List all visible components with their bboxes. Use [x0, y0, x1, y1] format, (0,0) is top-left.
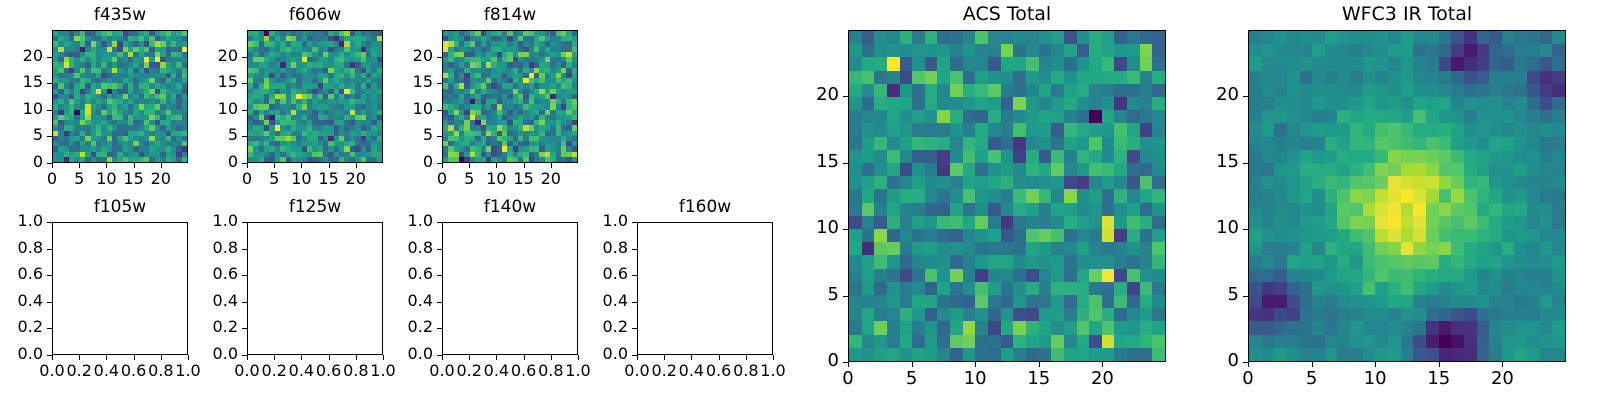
xtick-f140w-1	[469, 355, 470, 360]
yticklabel-f125w-4: 0.8	[178, 240, 238, 256]
xticklabel-acs-total-0: 0	[818, 370, 878, 388]
ytick-f435w-3	[47, 83, 52, 84]
ytick-wfc3-ir-total-3	[1243, 163, 1248, 164]
xtick-f140w-3	[524, 355, 525, 360]
xtick-f435w-3	[134, 163, 135, 168]
yticklabel-f125w-3: 0.6	[178, 266, 238, 282]
panel-title-wfc3-ir-total: WFC3 IR Total	[1248, 5, 1566, 24]
xticklabel-acs-total-3: 15	[1009, 370, 1069, 388]
xticklabel-f105w-5: 1.0	[158, 363, 218, 379]
yticklabel-f435w-2: 10	[0, 101, 43, 117]
yticklabel-f105w-1: 0.2	[0, 319, 43, 335]
ytick-f606w-2	[242, 110, 247, 111]
ytick-f606w-1	[242, 136, 247, 137]
xtick-wfc3-ir-total-1	[1312, 362, 1313, 367]
xtick-wfc3-ir-total-2	[1375, 362, 1376, 367]
ytick-f606w-3	[242, 83, 247, 84]
ytick-f435w-4	[47, 57, 52, 58]
yticklabel-f606w-4: 20	[178, 48, 238, 64]
xticklabel-f435w-4: 20	[131, 171, 191, 187]
ytick-f125w-0	[242, 355, 247, 356]
ytick-wfc3-ir-total-4	[1243, 96, 1248, 97]
xtick-f814w-4	[551, 163, 552, 168]
xticklabel-wfc3-ir-total-0: 0	[1218, 370, 1278, 388]
axes-f140w	[442, 222, 578, 355]
ytick-f105w-1	[47, 328, 52, 329]
yticklabel-f814w-1: 5	[373, 127, 433, 143]
xtick-acs-total-4	[1102, 362, 1103, 367]
xtick-f160w-0	[637, 355, 638, 360]
yticklabel-f125w-1: 0.2	[178, 319, 238, 335]
heatmap-f814w	[443, 31, 577, 162]
xtick-f125w-0	[247, 355, 248, 360]
axes-wfc3-ir-total	[1248, 30, 1566, 362]
axes-f105w	[52, 222, 188, 355]
ytick-f140w-4	[437, 249, 442, 250]
panel-title-acs-total: ACS Total	[848, 5, 1166, 24]
yticklabel-f160w-4: 0.8	[568, 240, 628, 256]
yticklabel-f140w-1: 0.2	[373, 319, 433, 335]
ytick-f814w-4	[437, 57, 442, 58]
yticklabel-f160w-5: 1.0	[568, 213, 628, 229]
xtick-f814w-2	[496, 163, 497, 168]
heatmap-acs-total	[849, 31, 1165, 361]
yticklabel-f814w-3: 15	[373, 74, 433, 90]
yticklabel-f606w-1: 5	[178, 127, 238, 143]
xtick-f606w-2	[301, 163, 302, 168]
ytick-f160w-5	[632, 222, 637, 223]
xtick-f140w-4	[551, 355, 552, 360]
yticklabel-f814w-0: 0	[373, 154, 433, 170]
xtick-f125w-3	[329, 355, 330, 360]
yticklabel-f160w-1: 0.2	[568, 319, 628, 335]
yticklabel-f160w-3: 0.6	[568, 266, 628, 282]
yticklabel-f125w-2: 0.4	[178, 293, 238, 309]
yticklabel-f105w-4: 0.8	[0, 240, 43, 256]
xticklabel-wfc3-ir-total-3: 15	[1409, 370, 1469, 388]
yticklabel-acs-total-4: 20	[779, 86, 839, 104]
xtick-f140w-0	[442, 355, 443, 360]
yticklabel-f435w-4: 20	[0, 48, 43, 64]
ytick-f435w-0	[47, 163, 52, 164]
yticklabel-acs-total-3: 15	[779, 153, 839, 171]
ytick-wfc3-ir-total-0	[1243, 362, 1248, 363]
ytick-f125w-2	[242, 302, 247, 303]
ytick-f606w-4	[242, 57, 247, 58]
yticklabel-f140w-0: 0.0	[373, 346, 433, 362]
xtick-f435w-1	[79, 163, 80, 168]
axes-f435w	[52, 30, 188, 163]
yticklabel-f435w-0: 0	[0, 154, 43, 170]
panel-title-f814w: f814w	[442, 7, 578, 24]
ytick-f814w-1	[437, 136, 442, 137]
ytick-f140w-3	[437, 275, 442, 276]
xtick-f160w-4	[746, 355, 747, 360]
yticklabel-f814w-4: 20	[373, 48, 433, 64]
panel-title-f125w: f125w	[247, 199, 383, 216]
xtick-f140w-2	[496, 355, 497, 360]
xtick-acs-total-1	[912, 362, 913, 367]
ytick-f105w-2	[47, 302, 52, 303]
ytick-acs-total-3	[843, 163, 848, 164]
xticklabel-acs-total-4: 20	[1072, 370, 1132, 388]
ytick-f140w-1	[437, 328, 442, 329]
xtick-f105w-2	[106, 355, 107, 360]
yticklabel-f606w-0: 0	[178, 154, 238, 170]
xtick-wfc3-ir-total-3	[1439, 362, 1440, 367]
ytick-acs-total-0	[843, 362, 848, 363]
xticklabel-wfc3-ir-total-4: 20	[1472, 370, 1532, 388]
yticklabel-acs-total-1: 5	[779, 286, 839, 304]
xtick-f435w-2	[106, 163, 107, 168]
axes-f125w	[247, 222, 383, 355]
xticklabel-f606w-4: 20	[326, 171, 386, 187]
xtick-f814w-3	[524, 163, 525, 168]
panel-title-f140w: f140w	[442, 199, 578, 216]
yticklabel-f160w-0: 0.0	[568, 346, 628, 362]
xtick-f814w-0	[442, 163, 443, 168]
xtick-wfc3-ir-total-0	[1248, 362, 1249, 367]
ytick-acs-total-1	[843, 296, 848, 297]
heatmap-f606w	[248, 31, 382, 162]
ytick-f606w-0	[242, 163, 247, 164]
xtick-f606w-3	[329, 163, 330, 168]
ytick-f105w-5	[47, 222, 52, 223]
ytick-f105w-3	[47, 275, 52, 276]
yticklabel-wfc3-ir-total-4: 20	[1179, 86, 1239, 104]
yticklabel-f105w-3: 0.6	[0, 266, 43, 282]
xtick-f105w-0	[52, 355, 53, 360]
xtick-f606w-1	[274, 163, 275, 168]
ytick-f140w-0	[437, 355, 442, 356]
heatmap-f435w	[53, 31, 187, 162]
ytick-f160w-4	[632, 249, 637, 250]
yticklabel-f606w-3: 15	[178, 74, 238, 90]
ytick-f814w-2	[437, 110, 442, 111]
yticklabel-f606w-2: 10	[178, 101, 238, 117]
xticklabel-f140w-5: 1.0	[548, 363, 608, 379]
xtick-f435w-0	[52, 163, 53, 168]
yticklabel-f140w-4: 0.8	[373, 240, 433, 256]
yticklabel-f140w-3: 0.6	[373, 266, 433, 282]
xtick-f814w-1	[469, 163, 470, 168]
yticklabel-acs-total-2: 10	[779, 219, 839, 237]
xtick-f606w-0	[247, 163, 248, 168]
ytick-acs-total-4	[843, 96, 848, 97]
yticklabel-f105w-2: 0.4	[0, 293, 43, 309]
panel-title-f435w: f435w	[52, 7, 188, 24]
panel-title-f606w: f606w	[247, 7, 383, 24]
yticklabel-f160w-2: 0.4	[568, 293, 628, 309]
ytick-f125w-1	[242, 328, 247, 329]
ytick-wfc3-ir-total-1	[1243, 296, 1248, 297]
xticklabel-f125w-5: 1.0	[353, 363, 413, 379]
xtick-f160w-2	[691, 355, 692, 360]
ytick-f125w-4	[242, 249, 247, 250]
yticklabel-wfc3-ir-total-0: 0	[1179, 352, 1239, 370]
matplotlib-figure: f435w0510152005101520f606w05101520051015…	[0, 0, 1600, 400]
xtick-f606w-4	[356, 163, 357, 168]
ytick-wfc3-ir-total-2	[1243, 229, 1248, 230]
xticklabel-wfc3-ir-total-2: 10	[1345, 370, 1405, 388]
yticklabel-f125w-5: 1.0	[178, 213, 238, 229]
ytick-f435w-1	[47, 136, 52, 137]
ytick-f814w-0	[437, 163, 442, 164]
xtick-f105w-3	[134, 355, 135, 360]
yticklabel-f435w-1: 5	[0, 127, 43, 143]
ytick-f160w-3	[632, 275, 637, 276]
panel-title-f160w: f160w	[637, 199, 773, 216]
axes-f814w	[442, 30, 578, 163]
axes-f160w	[637, 222, 773, 355]
ytick-f160w-1	[632, 328, 637, 329]
yticklabel-wfc3-ir-total-1: 5	[1179, 286, 1239, 304]
xtick-acs-total-0	[848, 362, 849, 367]
ytick-f814w-3	[437, 83, 442, 84]
yticklabel-f814w-2: 10	[373, 101, 433, 117]
xticklabel-acs-total-2: 10	[945, 370, 1005, 388]
yticklabel-wfc3-ir-total-2: 10	[1179, 219, 1239, 237]
yticklabel-wfc3-ir-total-3: 15	[1179, 153, 1239, 171]
ytick-f160w-2	[632, 302, 637, 303]
xtick-wfc3-ir-total-4	[1502, 362, 1503, 367]
ytick-f160w-0	[632, 355, 637, 356]
xtick-acs-total-2	[975, 362, 976, 367]
ytick-f105w-0	[47, 355, 52, 356]
yticklabel-f435w-3: 15	[0, 74, 43, 90]
axes-f606w	[247, 30, 383, 163]
xtick-f125w-4	[356, 355, 357, 360]
xtick-f105w-4	[161, 355, 162, 360]
xticklabel-f814w-4: 20	[521, 171, 581, 187]
xtick-f160w-1	[664, 355, 665, 360]
xticklabel-acs-total-1: 5	[882, 370, 942, 388]
ytick-f435w-2	[47, 110, 52, 111]
ytick-f140w-2	[437, 302, 442, 303]
xtick-acs-total-3	[1039, 362, 1040, 367]
xtick-f160w-5	[773, 355, 774, 360]
yticklabel-f105w-5: 1.0	[0, 213, 43, 229]
ytick-f105w-4	[47, 249, 52, 250]
xtick-f160w-3	[719, 355, 720, 360]
yticklabel-f140w-5: 1.0	[373, 213, 433, 229]
ytick-f140w-5	[437, 222, 442, 223]
xtick-f125w-1	[274, 355, 275, 360]
ytick-f125w-5	[242, 222, 247, 223]
ytick-f125w-3	[242, 275, 247, 276]
heatmap-wfc3-ir-total	[1249, 31, 1565, 361]
ytick-acs-total-2	[843, 229, 848, 230]
yticklabel-f125w-0: 0.0	[178, 346, 238, 362]
xticklabel-wfc3-ir-total-1: 5	[1282, 370, 1342, 388]
yticklabel-f105w-0: 0.0	[0, 346, 43, 362]
xtick-f125w-2	[301, 355, 302, 360]
axes-acs-total	[848, 30, 1166, 362]
xtick-f105w-1	[79, 355, 80, 360]
panel-title-f105w: f105w	[52, 199, 188, 216]
xtick-f435w-4	[161, 163, 162, 168]
yticklabel-acs-total-0: 0	[779, 352, 839, 370]
yticklabel-f140w-2: 0.4	[373, 293, 433, 309]
